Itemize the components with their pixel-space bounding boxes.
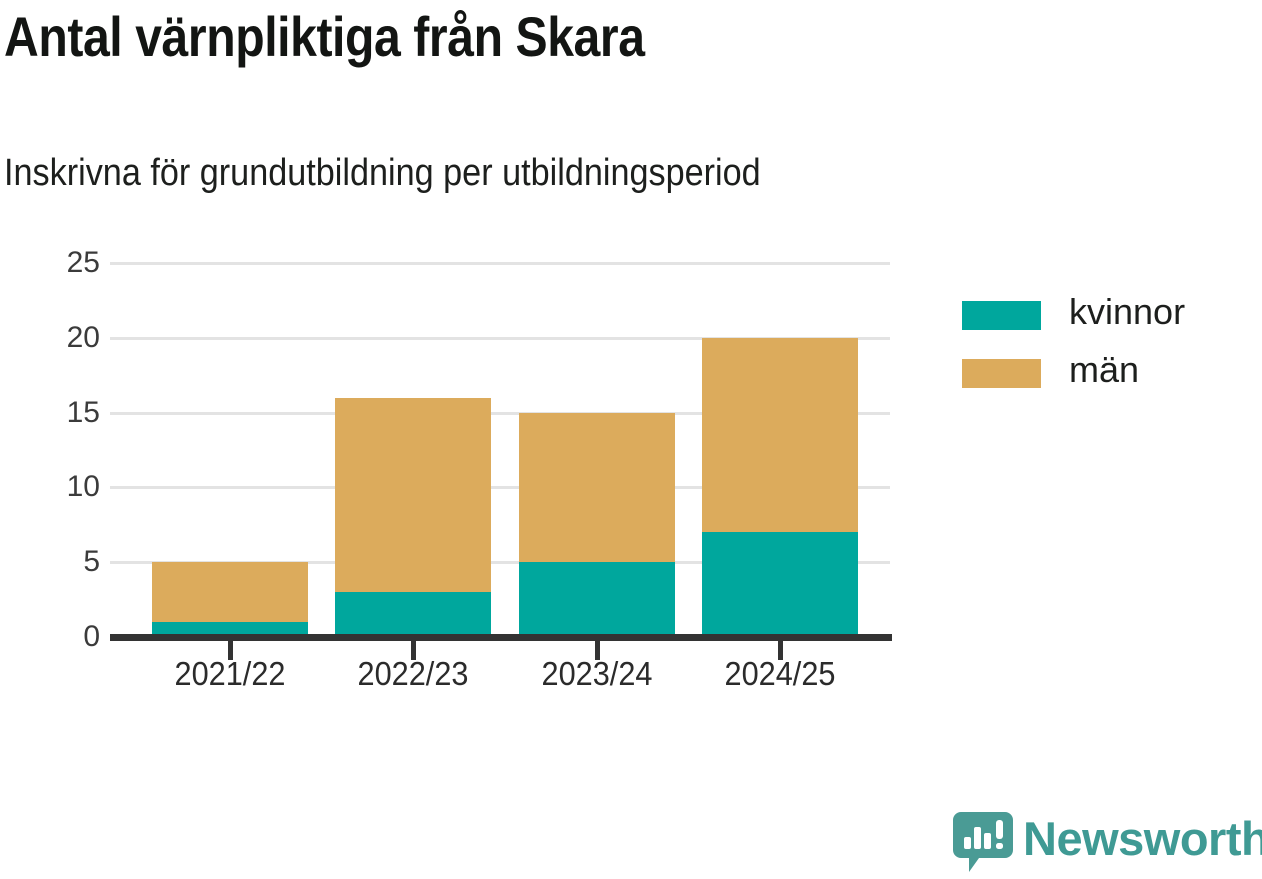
- bar-segment-män[interactable]: [335, 398, 491, 592]
- legend-label-man: män: [1069, 347, 1139, 394]
- bar-stack[interactable]: [335, 0, 491, 637]
- legend-label-kvinnor: kvinnor: [1069, 289, 1185, 336]
- y-axis-tick-label: 10: [30, 472, 100, 502]
- bar-stack[interactable]: [519, 0, 675, 637]
- x-axis-tick-label: 2023/24: [504, 657, 690, 690]
- y-axis-tick-label: 5: [30, 547, 100, 577]
- legend-item-man[interactable]: män: [962, 350, 1252, 408]
- x-axis-tick-label: 2022/23: [320, 657, 506, 690]
- x-axis-tick-label: 2024/25: [687, 657, 873, 690]
- legend-swatch-kvinnor: [962, 301, 1041, 330]
- bar-segment-kvinnor[interactable]: [519, 562, 675, 637]
- bar-stack[interactable]: [702, 0, 858, 637]
- bar-stack[interactable]: [152, 0, 308, 637]
- newsworthy-bubble-bars-icon: [951, 810, 1015, 874]
- bar-segment-män[interactable]: [152, 562, 308, 622]
- legend-swatch-man: [962, 359, 1041, 388]
- y-axis-tick-label: 25: [30, 248, 100, 278]
- y-axis-tick-label: 15: [30, 398, 100, 428]
- bar-segment-män[interactable]: [702, 338, 858, 532]
- newsworthy-logo[interactable]: Newsworthy: [951, 808, 1256, 874]
- bar-segment-kvinnor[interactable]: [335, 592, 491, 637]
- y-axis-tick-label: 0: [30, 622, 100, 652]
- bar-segment-kvinnor[interactable]: [702, 532, 858, 637]
- y-axis-tick-label: 20: [30, 323, 100, 353]
- newsworthy-wordmark: Newsworthy: [1023, 811, 1262, 867]
- chart-plot-area: 0510152025 2021/222022/232023/242024/25: [0, 0, 1262, 879]
- chart-legend: kvinnor män: [962, 292, 1252, 408]
- bar-segment-män[interactable]: [519, 413, 675, 563]
- x-axis-tick-label: 2021/22: [137, 657, 323, 690]
- x-axis-line: [110, 634, 892, 641]
- legend-item-kvinnor[interactable]: kvinnor: [962, 292, 1252, 350]
